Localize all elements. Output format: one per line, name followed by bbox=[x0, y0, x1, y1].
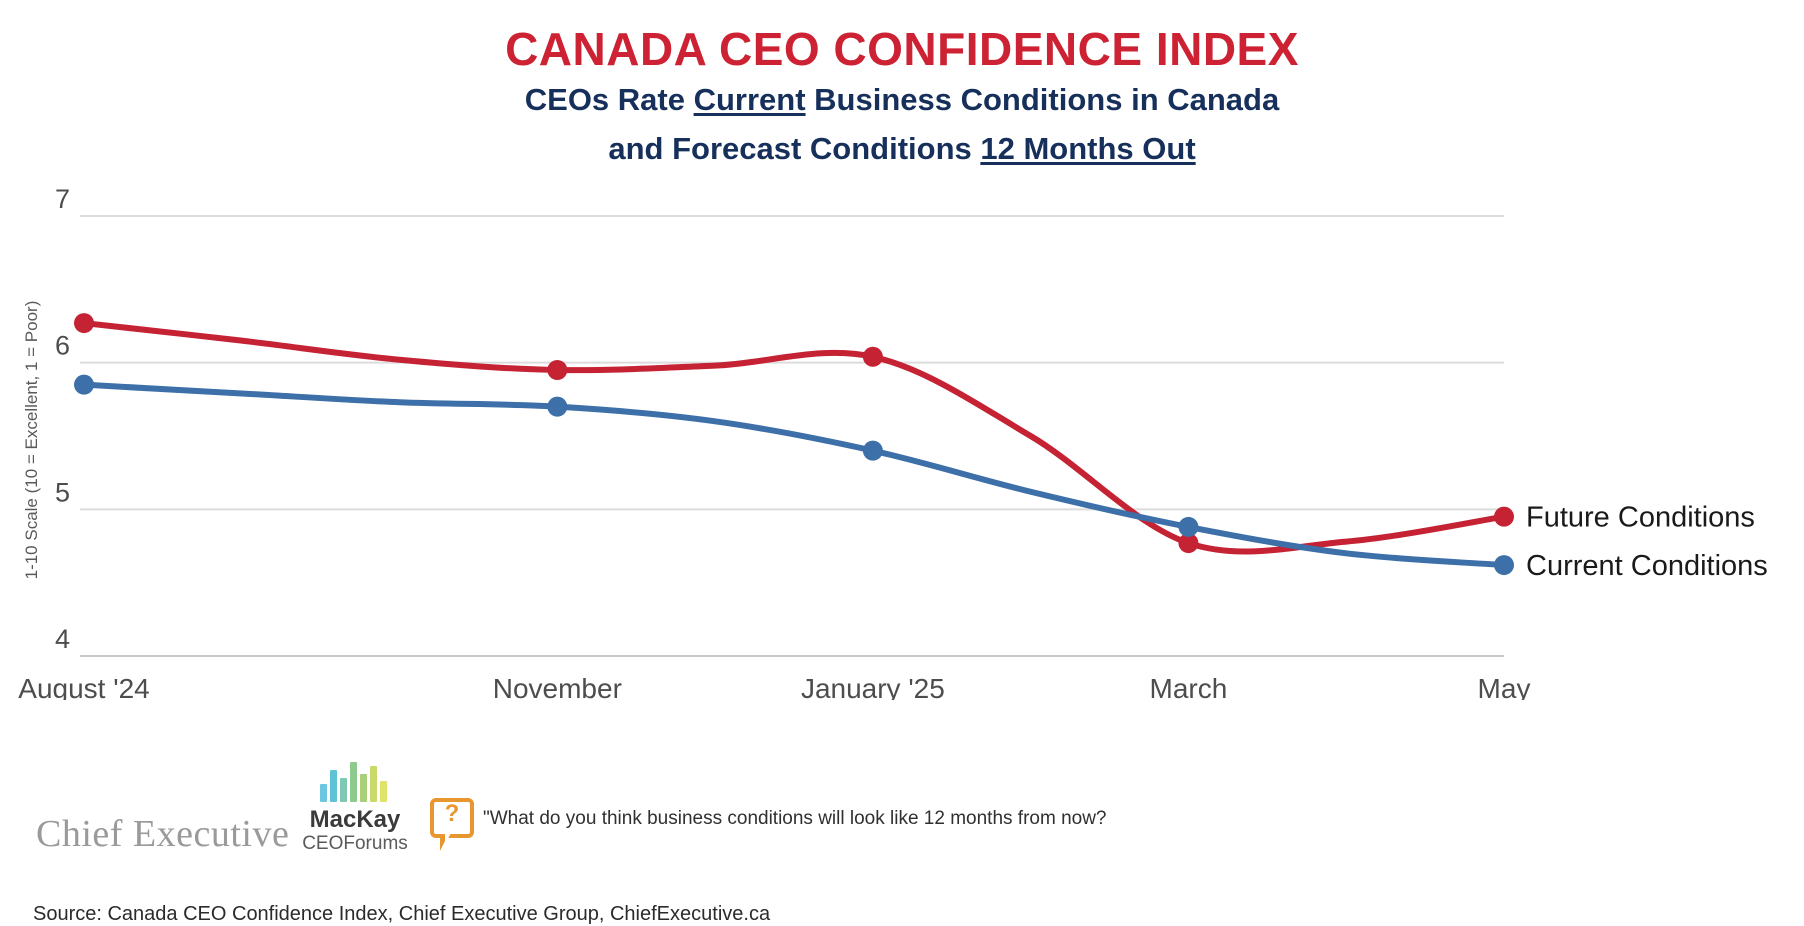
bubble-tail-inner bbox=[445, 833, 451, 844]
data-point bbox=[74, 375, 94, 395]
chief-executive-logo: Chief Executive bbox=[36, 812, 289, 856]
series-future-conditions: Future Conditions bbox=[74, 313, 1755, 553]
data-point bbox=[547, 360, 567, 380]
question-bubble-icon: ? bbox=[430, 798, 474, 838]
subtitle-text-c: and Forecast Conditions bbox=[608, 131, 980, 166]
data-point bbox=[74, 313, 94, 333]
data-point bbox=[1494, 555, 1514, 575]
x-tick-label-january-25: January '25 bbox=[801, 673, 945, 700]
question-mark-glyph: ? bbox=[434, 800, 470, 828]
subtitle-text-a: CEOs Rate bbox=[525, 82, 694, 117]
series-current-conditions: Current Conditions bbox=[74, 375, 1768, 582]
page-title: CANADA CEO CONFIDENCE INDEX bbox=[0, 22, 1804, 76]
subtitle-emphasis-current: Current bbox=[694, 82, 806, 117]
survey-question-quote: "What do you think business conditions w… bbox=[483, 808, 1107, 830]
chart-footer: Chief Executive MacKay CEOForums ? "What… bbox=[0, 750, 1804, 920]
y-axis-title: 1-10 Scale (10 = Excellent, 1 = Poor) bbox=[22, 290, 42, 590]
mackay-bars-icon bbox=[320, 760, 390, 802]
y-tick-label-5: 5 bbox=[55, 477, 70, 507]
legend-label-future-conditions: Future Conditions bbox=[1526, 502, 1755, 534]
data-point bbox=[863, 347, 883, 367]
x-tick-label-november: November bbox=[493, 673, 622, 700]
data-point bbox=[1178, 517, 1198, 537]
y-tick-label-4: 4 bbox=[55, 624, 70, 654]
subtitle-line-2: and Forecast Conditions 12 Months Out bbox=[0, 131, 1804, 167]
line-chart-svg: 4567August '24NovemberJanuary '25MarchMa… bbox=[0, 180, 1804, 700]
x-tick-label-march: March bbox=[1150, 673, 1228, 700]
chart-page: CANADA CEO CONFIDENCE INDEX CEOs Rate Cu… bbox=[0, 0, 1804, 920]
mackay-ceo-forums-logo: MacKay CEOForums bbox=[300, 760, 410, 868]
data-point bbox=[547, 397, 567, 417]
subtitle-line-1: CEOs Rate Current Business Conditions in… bbox=[0, 82, 1804, 118]
y-tick-label-6: 6 bbox=[55, 331, 70, 361]
x-tick-label-may: May bbox=[1478, 673, 1531, 700]
mackay-logo-line2: CEOForums bbox=[300, 833, 410, 855]
series-line bbox=[84, 385, 1504, 565]
chart-plot-area: 1-10 Scale (10 = Excellent, 1 = Poor) 45… bbox=[0, 180, 1804, 680]
subtitle-emphasis-12-months: 12 Months Out bbox=[980, 131, 1195, 166]
data-point bbox=[863, 441, 883, 461]
x-tick-label-august-24: August '24 bbox=[18, 673, 149, 700]
subtitle-text-b: Business Conditions in Canada bbox=[806, 82, 1280, 117]
source-note: Source: Canada CEO Confidence Index, Chi… bbox=[33, 903, 770, 926]
mackay-logo-line1: MacKay bbox=[300, 806, 410, 834]
y-tick-label-7: 7 bbox=[55, 184, 70, 214]
legend-label-current-conditions: Current Conditions bbox=[1526, 550, 1768, 582]
data-point bbox=[1494, 507, 1514, 527]
